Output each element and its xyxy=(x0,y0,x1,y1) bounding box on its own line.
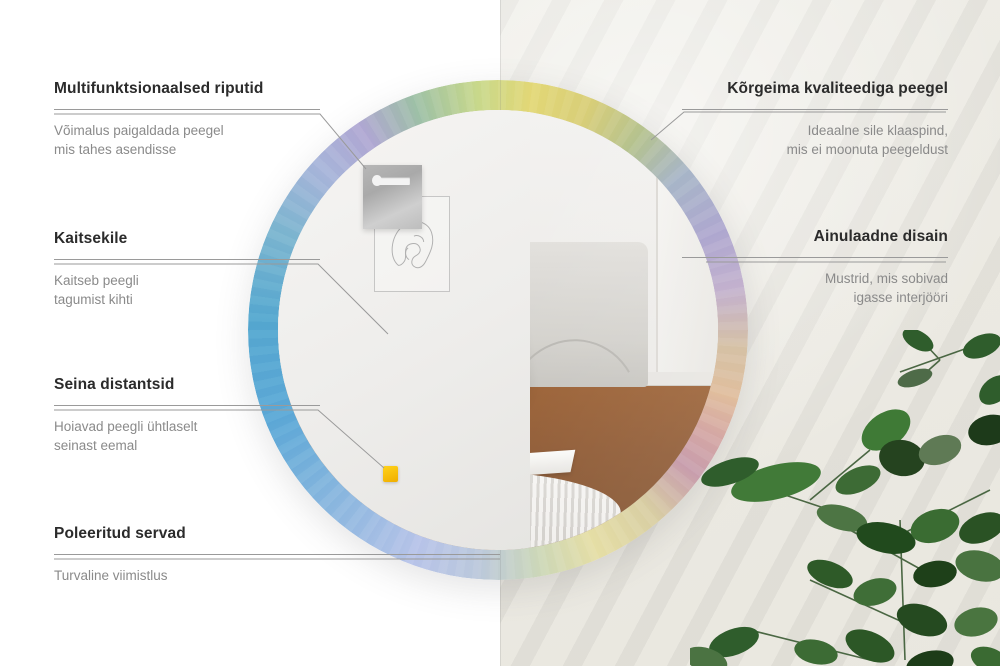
feature-label-multifunctional-hangers: Multifunktsionaalsed riputid Võimalus pa… xyxy=(54,80,320,159)
feature-label-polished-edges: Poleeritud servad Turvaline viimistlus xyxy=(54,525,500,585)
feature-rule xyxy=(682,109,948,110)
feature-description: Turvaline viimistlus xyxy=(54,566,500,585)
feature-title: Kaitsekile xyxy=(54,230,320,248)
feature-rule xyxy=(54,109,320,110)
feature-title: Poleeritud servad xyxy=(54,525,500,543)
feature-description: Mustrid, mis sobivad igasse interjööri xyxy=(682,269,948,307)
feature-label-protective-film: Kaitsekile Kaitseb peegli tagumist kihti xyxy=(54,230,320,309)
mirror-body xyxy=(248,80,748,580)
feature-label-wall-spacers: Seina distantsid Hoiavad peegli ühtlasel… xyxy=(54,376,320,455)
feature-title: Ainulaadne disain xyxy=(682,228,948,246)
feature-title: Seina distantsid xyxy=(54,376,320,394)
feature-description: Hoiavad peegli ühtlaselt seinast eemal xyxy=(54,417,320,455)
feature-title: Kõrgeima kvaliteediga peegel xyxy=(682,80,948,98)
infographic-canvas: Multifunktsionaalsed riputid Võimalus pa… xyxy=(0,0,1000,666)
mirror-product xyxy=(248,80,748,580)
feature-description: Ideaalne sile klaaspind, mis ei moonuta … xyxy=(682,121,948,159)
feature-rule xyxy=(54,405,320,406)
feature-rule xyxy=(54,554,500,555)
feature-rule xyxy=(54,259,320,260)
feature-description: Kaitseb peegli tagumist kihti xyxy=(54,271,320,309)
feature-rule xyxy=(682,257,948,258)
keyhole-slot-icon xyxy=(376,177,410,185)
feature-description: Võimalus paigaldada peegel mis tahes ase… xyxy=(54,121,320,159)
yellow-wall-spacer xyxy=(383,466,398,482)
feature-label-unique-design: Ainulaadne disain Mustrid, mis sobivad i… xyxy=(682,228,948,307)
feature-title: Multifunktsionaalsed riputid xyxy=(54,80,320,98)
hanger-plate xyxy=(363,165,422,229)
feature-label-highest-quality-mirror: Kõrgeima kvaliteediga peegel Ideaalne si… xyxy=(682,80,948,159)
mirror-glass-surface xyxy=(278,110,718,550)
